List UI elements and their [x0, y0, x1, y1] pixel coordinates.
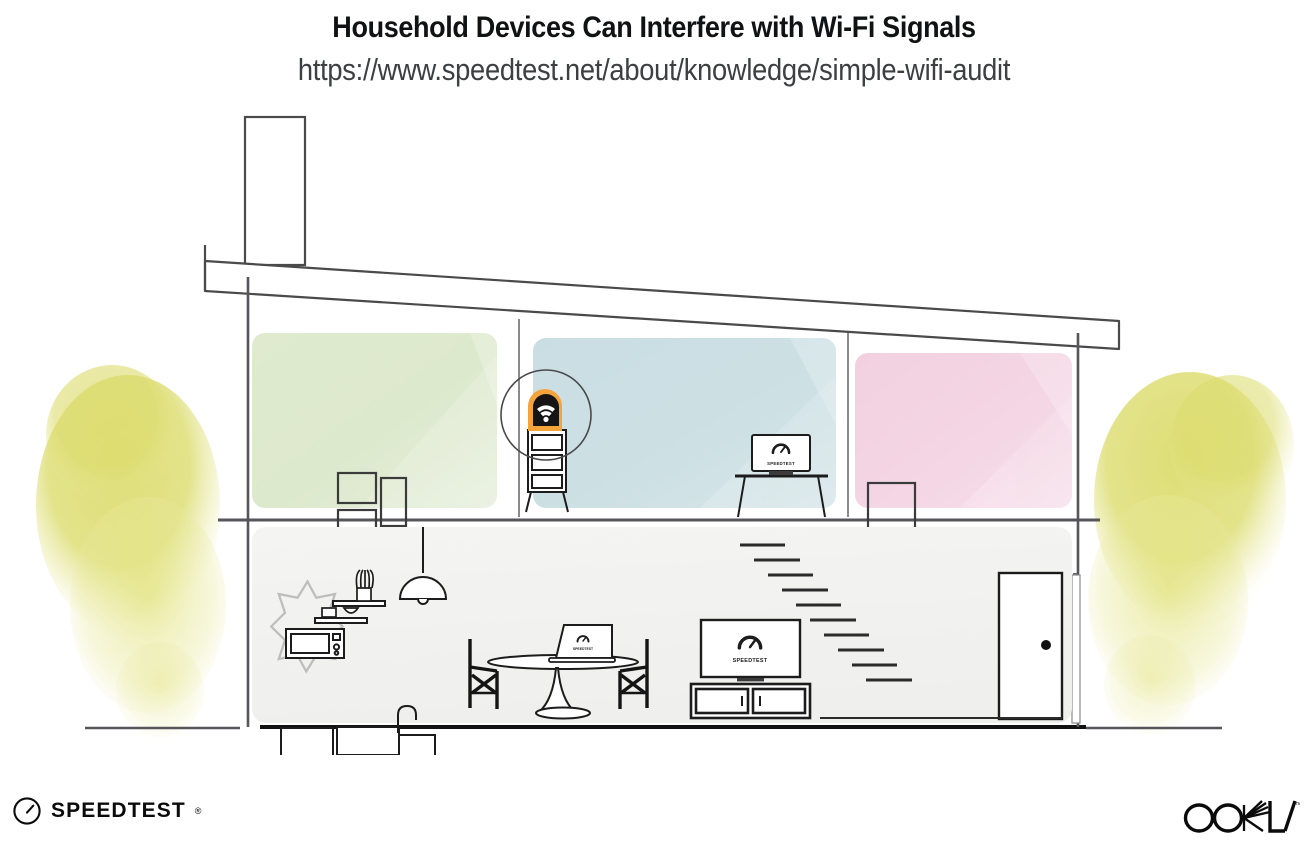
door-board: [999, 573, 1062, 719]
speedtest-registered-mark: ®: [195, 806, 202, 816]
tv-console: [691, 684, 810, 718]
wifi-router: [528, 389, 562, 431]
front-door-group[interactable]: [999, 573, 1062, 719]
room-ground-floor: SPEEDTEST: [252, 527, 1072, 755]
television: SPEEDTEST: [701, 620, 800, 681]
ookla-logo[interactable]: ™: [1182, 794, 1300, 843]
laptop-screen-label: SPEEDTEST: [573, 647, 594, 651]
ookla-o1: [1186, 805, 1213, 831]
source-url: https://www.speedtest.net/about/knowledg…: [78, 45, 1229, 88]
door-knob: [1041, 640, 1051, 650]
speedometer-icon: [12, 796, 42, 826]
ookla-o2: [1215, 805, 1242, 831]
ookla-trademark: ™: [1295, 802, 1300, 809]
header: Household Devices Can Interfere with Wi-…: [0, 0, 1308, 88]
device-screen-label: SPEEDTEST: [767, 461, 795, 466]
footer: SPEEDTEST ®: [0, 782, 1308, 852]
illustration-stage: SPEEDTEST: [0, 105, 1308, 755]
downspout-face: [1072, 575, 1080, 723]
kitchen-counters: [281, 727, 435, 755]
infographic-page: Household Devices Can Interfere with Wi-…: [0, 0, 1308, 861]
tree-right: [1088, 372, 1294, 735]
microwave: [286, 629, 344, 658]
ookla-la: [1270, 801, 1295, 831]
tv-screen-label: SPEEDTEST: [733, 658, 768, 664]
speedtest-logo[interactable]: SPEEDTEST ®: [12, 796, 201, 826]
tree-left: [36, 365, 226, 738]
chimney: [245, 117, 305, 265]
page-title: Household Devices Can Interfere with Wi-…: [65, 0, 1242, 45]
ookla-k: [1244, 801, 1270, 831]
speedtest-wordmark: SPEEDTEST: [51, 799, 186, 823]
